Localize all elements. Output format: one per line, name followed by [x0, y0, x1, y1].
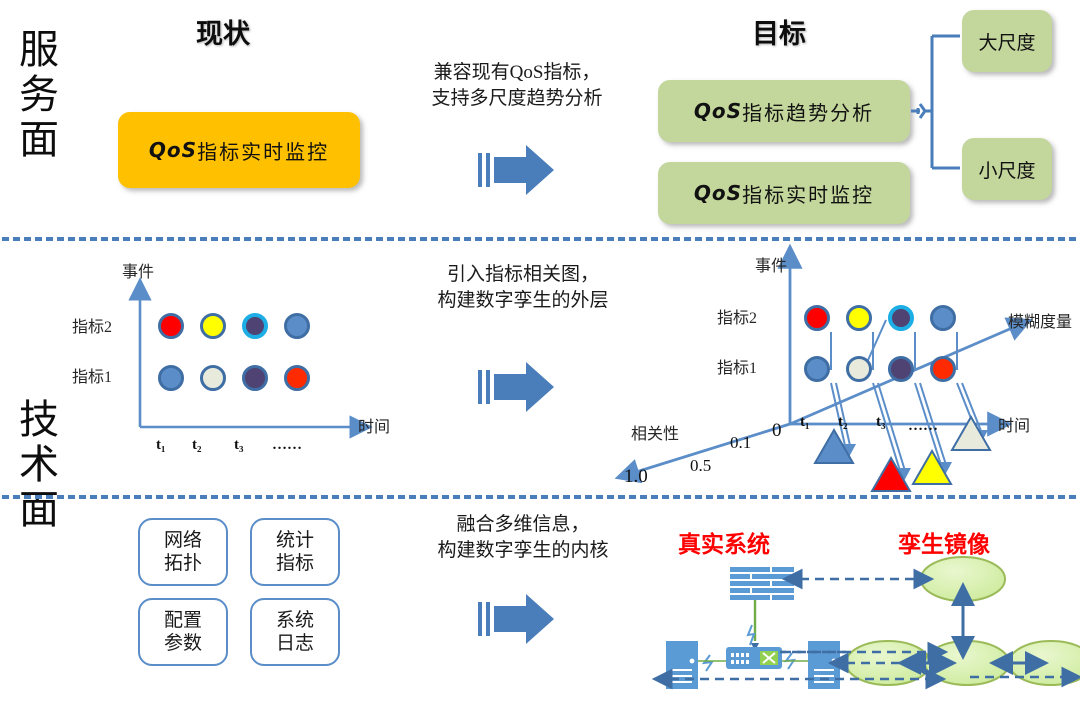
right-chart-corr-label: 相关性 [631, 420, 679, 444]
transition-caption-service: 兼容现有QoS指标， 支持多尺度趋势分析 [392, 60, 642, 111]
source-box-config-line-1: 参数 [164, 632, 202, 655]
left-chart-dot-r2-c1 [200, 313, 226, 339]
right-chart-series-label-1: 指标1 [717, 354, 757, 378]
right-scatter-axes [660, 258, 1080, 498]
scale-box-large[interactable]: 大尺度 [962, 10, 1052, 72]
target-box-trend-label: 指标趋势分析 [742, 97, 874, 126]
left-chart-dot-r1-c1 [200, 365, 226, 391]
left-chart-series-label-2: 指标2 [72, 313, 112, 337]
twin-ellipse-top [921, 557, 1005, 601]
plane-label-service: 服 务 面 [8, 28, 70, 162]
source-box-topology[interactable]: 网络 拓扑 [138, 518, 228, 586]
right-chart-xaxis-label: 时间 [998, 412, 1030, 436]
transition-caption-service-line-1: 支持多尺度趋势分析 [392, 86, 642, 112]
router-icon [726, 647, 782, 669]
source-box-config[interactable]: 配置 参数 [138, 598, 228, 666]
right-chart-dot-r2-c0 [804, 305, 830, 331]
target-box-trend[interactable]: QoS 指标趋势分析 [658, 80, 910, 142]
plane-label-technology-char-1: 术 [8, 443, 70, 488]
transition-arrow-service [478, 143, 588, 203]
twin-mirror-title: 孪生镜像 [898, 525, 990, 559]
current-state-box-prefix: QoS [149, 138, 197, 162]
left-chart-dot-r2-c3 [284, 313, 310, 339]
right-chart-xtick-0: t₁ [800, 414, 810, 431]
section-title-target: 目标 [752, 12, 806, 51]
left-chart-xaxis-label: 时间 [358, 413, 390, 437]
right-chart-xtick-2: t₃ [876, 414, 886, 431]
plane-label-technology-char-2: 面 [8, 488, 70, 533]
left-chart-xtick-3: …… [272, 437, 302, 454]
right-chart-corr-tick-1: 0.5 [690, 456, 711, 476]
left-chart-dot-r2-c2 [242, 313, 268, 339]
plane-label-service-char-2: 面 [8, 118, 70, 163]
target-box-realtime-prefix: QoS [694, 181, 742, 205]
left-chart-yaxis-label: 事件 [122, 258, 154, 282]
plane-label-service-char-1: 务 [8, 73, 70, 118]
right-chart-corr-tick-0: 0.1 [730, 433, 751, 453]
left-chart-xtick-1: t₂ [192, 437, 202, 454]
right-chart-dot-r1-c1 [846, 356, 872, 382]
transition-caption-inner-line-1: 构建数字孪生的内核 [398, 538, 648, 564]
transition-arrow-inner [478, 592, 588, 652]
right-chart-xtick-1: t₂ [838, 414, 848, 431]
source-box-syslog[interactable]: 系统 日志 [250, 598, 340, 666]
left-chart-dot-r2-c0 [158, 313, 184, 339]
left-chart-dot-r1-c2 [242, 365, 268, 391]
source-box-syslog-line-0: 系统 [276, 609, 314, 632]
target-box-realtime[interactable]: QoS 指标实时监控 [658, 162, 910, 224]
firewall-icon [730, 567, 794, 600]
source-box-statistics-line-1: 指标 [276, 552, 314, 575]
left-chart-xtick-0: t₁ [156, 437, 166, 454]
right-chart-dot-r1-c0 [804, 356, 830, 382]
transition-arrow-outer [478, 360, 588, 420]
left-chart-xtick-2: t₃ [234, 437, 244, 454]
right-chart-corr-tick-2: 1.0 [624, 466, 648, 488]
server-right-icon [808, 641, 840, 689]
plane-label-technology: 技 术 面 [8, 398, 70, 532]
current-state-box[interactable]: QoS 指标实时监控 [118, 112, 360, 188]
source-box-statistics-line-0: 统计 [276, 529, 314, 552]
source-box-syslog-line-1: 日志 [276, 632, 314, 655]
section-title-current: 现状 [196, 12, 250, 51]
real-system-title: 真实系统 [678, 525, 770, 559]
right-chart-origin-label: 0 [772, 420, 782, 442]
right-chart-dot-r2-c3 [930, 305, 956, 331]
twin-ellipse-center [925, 641, 1009, 685]
right-chart-dot-r1-c2 [888, 356, 914, 382]
right-chart-yaxis-label: 事件 [755, 252, 787, 276]
current-state-box-label: 指标实时监控 [197, 136, 329, 165]
right-chart-series-label-2: 指标2 [717, 304, 757, 328]
transition-caption-service-line-0: 兼容现有QoS指标， [392, 60, 642, 86]
transition-caption-inner-line-0: 融合多维信息， [398, 512, 648, 538]
plane-label-technology-char-0: 技 [8, 398, 70, 443]
source-box-statistics[interactable]: 统计 指标 [250, 518, 340, 586]
scale-box-small[interactable]: 小尺度 [962, 138, 1052, 200]
server-left-icon [666, 641, 698, 689]
target-box-realtime-label: 指标实时监控 [742, 179, 874, 208]
plane-label-service-char-0: 服 [8, 28, 70, 73]
scale-box-large-label: 大尺度 [978, 28, 1035, 55]
left-chart-series-label-1: 指标1 [72, 363, 112, 387]
left-chart-dot-r1-c3 [284, 365, 310, 391]
right-chart-xtick-3: …… [908, 418, 938, 435]
left-chart-dot-r1-c0 [158, 365, 184, 391]
source-box-config-line-0: 配置 [164, 609, 202, 632]
transition-caption-inner: 融合多维信息， 构建数字孪生的内核 [398, 512, 648, 563]
source-box-topology-line-1: 拓扑 [164, 552, 202, 575]
right-chart-zaxis-label: 模糊度量 [1008, 308, 1072, 332]
right-chart-dot-r1-c3 [930, 356, 956, 382]
right-chart-dot-r2-c1 [846, 305, 872, 331]
network-twin-diagram [660, 555, 1080, 725]
target-box-trend-prefix: QoS [694, 99, 742, 123]
scale-box-small-label: 小尺度 [978, 156, 1035, 183]
source-box-topology-line-0: 网络 [164, 529, 202, 552]
left-scatter-axes [100, 272, 440, 472]
right-chart-dot-r2-c2 [888, 305, 914, 331]
